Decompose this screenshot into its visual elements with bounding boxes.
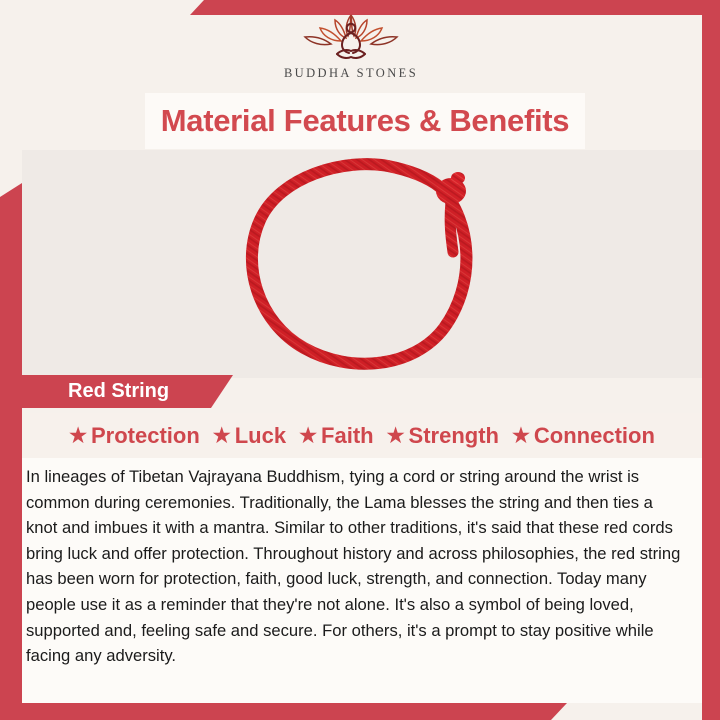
page-title: Material Features & Benefits [161,103,570,139]
brand-logo: BUDDHA STONES [0,0,702,95]
benefit-item: ★ Strength [387,423,499,449]
description-area: In lineages of Tibetan Vajrayana Buddhis… [22,458,702,703]
infographic-poster: BUDDHA STONES Material Features & Benefi… [0,0,720,720]
lotus-meditating-figure-icon [297,10,405,62]
star-icon: ★ [387,426,405,446]
star-icon: ★ [299,426,317,446]
material-label: Red String [68,380,169,403]
benefit-label: Strength [409,423,499,449]
benefit-item: ★ Protection [69,423,200,449]
description-text: In lineages of Tibetan Vajrayana Buddhis… [26,464,686,669]
product-image-area [22,150,702,378]
benefit-item: ★ Faith [299,423,374,449]
star-icon: ★ [69,426,87,446]
benefit-label: Connection [534,423,655,449]
star-icon: ★ [512,426,530,446]
red-string-bracelet-image [218,152,508,378]
decorative-right-bar [702,14,720,720]
star-icon: ★ [213,426,231,446]
benefit-item: ★ Connection [512,423,655,449]
decorative-left-bar [0,183,22,720]
benefit-item: ★ Luck [213,423,286,449]
benefit-label: Faith [321,423,374,449]
benefit-label: Protection [91,423,200,449]
benefit-label: Luck [235,423,286,449]
brand-name: BUDDHA STONES [284,66,418,81]
material-label-banner: Red String [22,375,233,408]
title-banner: Material Features & Benefits [145,93,585,149]
decorative-bottom-bar [22,703,567,720]
benefits-list: ★ Protection ★ Luck ★ Faith ★ Strength ★… [22,413,702,458]
